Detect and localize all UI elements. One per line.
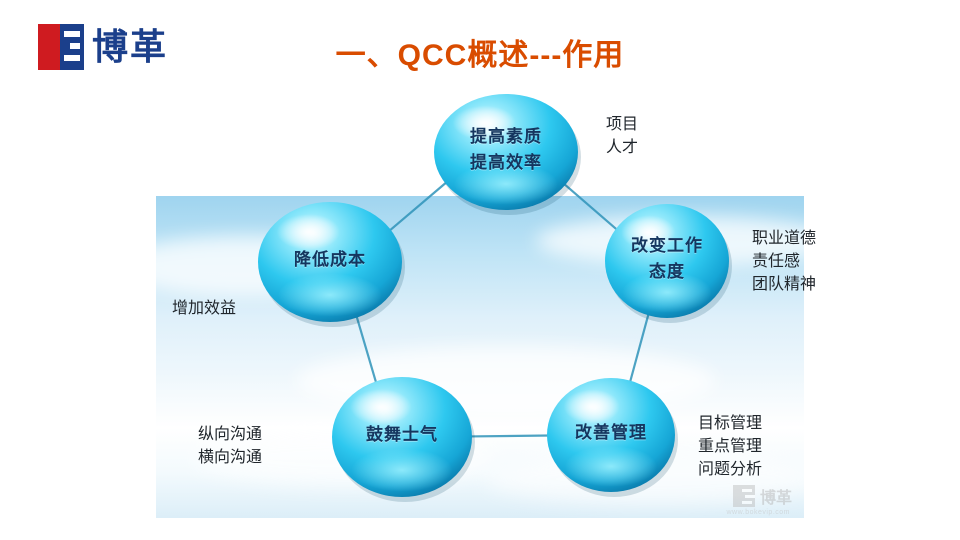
node-label-management: 改善管理 bbox=[541, 420, 682, 446]
annot-management: 目标管理 重点管理 问题分析 bbox=[698, 412, 762, 482]
annot-morale: 纵向沟通 横向沟通 bbox=[198, 423, 262, 469]
annot-quality: 项目 人才 bbox=[606, 113, 638, 159]
annot-attitude: 职业道德 责任感 团队精神 bbox=[752, 227, 816, 297]
node-label-cost: 降低成本 bbox=[251, 247, 409, 273]
watermark-sub: www.bokevip.com bbox=[726, 509, 790, 516]
slide: 博革 一、QCC概述---作用 博革 www.bokevip.com bbox=[0, 0, 960, 540]
node-label-morale: 鼓舞士气 bbox=[325, 422, 479, 448]
watermark-logo-icon bbox=[733, 485, 755, 507]
watermark: 博革 www.bokevip.com bbox=[733, 484, 792, 508]
annot-cost: 增加效益 bbox=[172, 297, 236, 320]
cloud-decoration bbox=[296, 346, 716, 416]
page-title: 一、QCC概述---作用 bbox=[0, 30, 960, 74]
node-label-quality: 提高素质 提高效率 bbox=[427, 124, 585, 177]
node-label-attitude: 改变工作 态度 bbox=[599, 233, 735, 286]
watermark-text: 博革 bbox=[760, 484, 792, 508]
